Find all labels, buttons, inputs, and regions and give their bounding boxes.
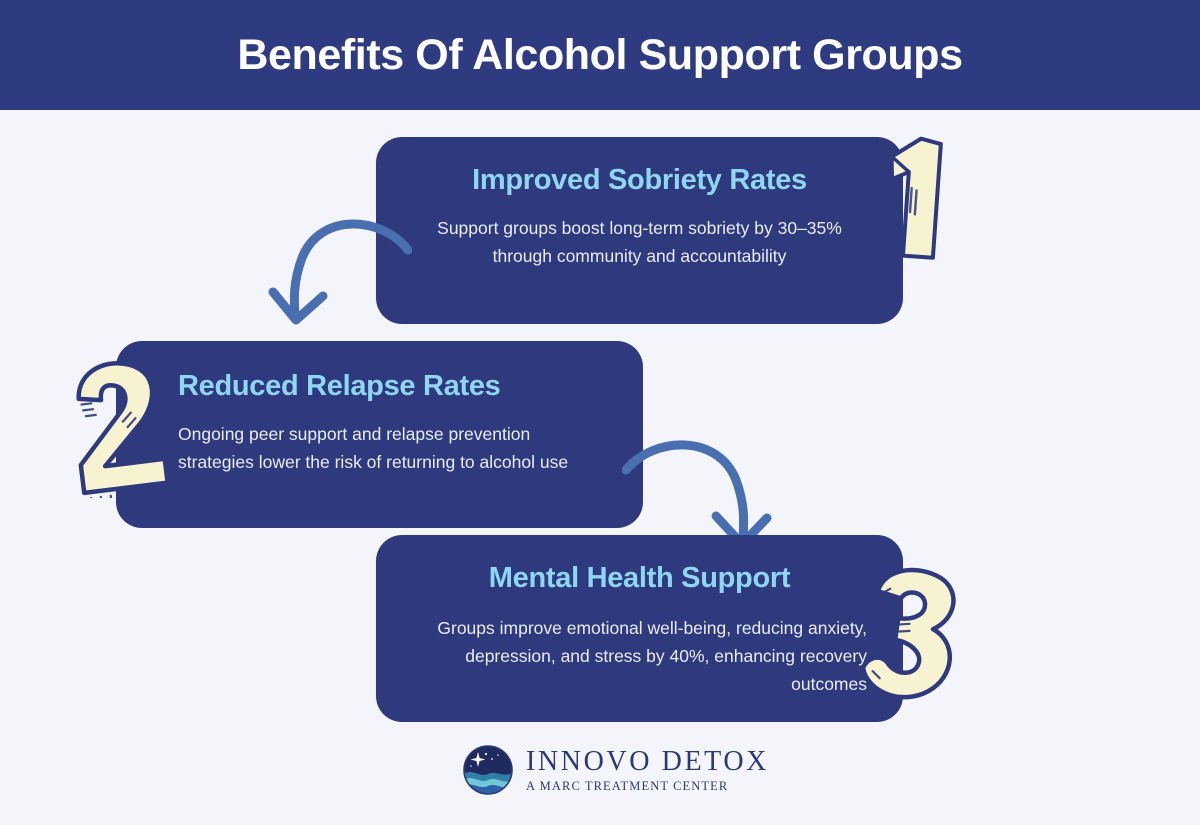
page-title: Benefits Of Alcohol Support Groups: [0, 0, 1200, 110]
benefit-card-3-title: Mental Health Support: [412, 561, 867, 596]
header-bar: Benefits Of Alcohol Support Groups: [0, 0, 1200, 110]
logo-tagline: A MARC TREATMENT CENTER: [526, 780, 769, 793]
benefit-card-3[interactable]: Mental Health Support Groups improve emo…: [376, 535, 903, 722]
logo-text: INNOVO DETOX A MARC TREATMENT CENTER: [526, 748, 769, 793]
benefit-card-1-title: Improved Sobriety Rates: [412, 163, 867, 198]
benefit-card-3-body: Groups improve emotional well-being, red…: [412, 614, 867, 699]
benefit-card-1-body: Support groups boost long-term sobriety …: [412, 214, 867, 271]
logo-name: INNOVO DETOX: [526, 748, 769, 776]
infographic-stage: Improved Sobriety Rates Support groups b…: [0, 110, 1200, 825]
benefit-card-2-body: Ongoing peer support and relapse prevent…: [178, 420, 599, 477]
brand-logo[interactable]: INNOVO DETOX A MARC TREATMENT CENTER: [462, 740, 752, 800]
benefit-card-1[interactable]: Improved Sobriety Rates Support groups b…: [376, 137, 903, 324]
benefit-card-2[interactable]: Reduced Relapse Rates Ongoing peer suppo…: [116, 341, 643, 528]
benefit-card-2-title: Reduced Relapse Rates: [178, 369, 599, 404]
wave-star-circle-icon: [462, 744, 514, 796]
